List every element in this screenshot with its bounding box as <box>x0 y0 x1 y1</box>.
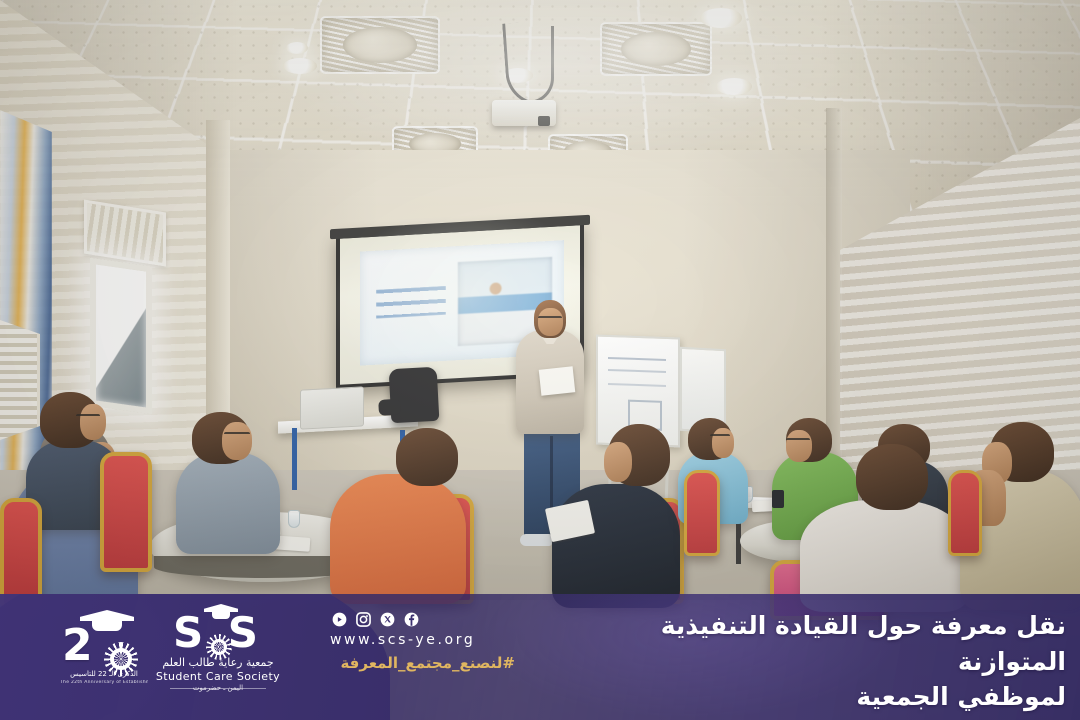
banner-headline: نقل معرفة حول القيادة التنفيذية المتوازن… <box>596 608 1066 715</box>
anniversary-english-caption: The 22th Anniversary of Establishment <box>60 680 148 685</box>
banquet-chair <box>948 470 982 556</box>
x-twitter-icon[interactable] <box>380 612 395 627</box>
banquet-chair <box>0 498 42 608</box>
attendee-face <box>786 430 812 462</box>
office-chair <box>389 367 440 423</box>
attendee-head <box>856 444 928 510</box>
org-logo: S S جمعية رعاية طالب العلم Student Care … <box>152 606 284 694</box>
laptop <box>300 386 364 429</box>
social-icons <box>332 612 522 627</box>
eyeglasses <box>224 432 250 436</box>
presenter-shoe <box>520 534 552 546</box>
attendee-face <box>80 404 106 440</box>
presenter-papers <box>539 366 576 395</box>
banquet-chair <box>100 452 152 572</box>
eyeglasses <box>538 316 562 320</box>
wall-air-conditioner <box>0 320 40 440</box>
org-region: اليمن ـ حضرموت <box>152 684 284 692</box>
window <box>90 258 152 415</box>
graduation-cap-icon <box>204 604 238 619</box>
attendee-head <box>396 428 458 486</box>
attendee-face <box>222 422 252 460</box>
slide-arabic-text <box>376 286 445 320</box>
eyeglasses <box>76 414 100 418</box>
graduation-cap-top <box>204 604 238 612</box>
graduation-cap-base <box>212 612 230 619</box>
presenter-face <box>538 308 563 336</box>
youtube-icon[interactable] <box>332 612 347 627</box>
org-english-name: Student Care Society <box>152 670 284 683</box>
eyeglasses <box>786 438 810 442</box>
facebook-icon[interactable] <box>404 612 419 627</box>
event-banner-image: 2 الذكرى الـ 22 للتأسيس The 22th Anniver… <box>0 0 1080 720</box>
bottom-banner: 2 الذكرى الـ 22 للتأسيس The 22th Anniver… <box>0 594 1080 720</box>
headline-line-1: نقل معرفة حول القيادة التنفيذية المتوازن… <box>661 611 1066 676</box>
attendee-body <box>176 452 280 554</box>
eyeglasses <box>710 434 730 438</box>
instagram-icon[interactable] <box>356 612 371 627</box>
graduation-cap-base <box>92 621 122 631</box>
attendee-face <box>712 428 734 458</box>
anniversary-number: 2 <box>62 624 90 668</box>
campaign-hashtag: #لنصنع_مجتمع_المعرفة <box>325 654 515 672</box>
smartphone <box>772 490 784 508</box>
attendee-face <box>604 442 632 482</box>
headline-line-2: لموظفي الجمعية <box>596 679 1066 715</box>
org-arabic-name: جمعية رعاية طالب العلم <box>152 656 284 669</box>
desk-leg <box>292 428 297 490</box>
attendee-body <box>330 474 466 604</box>
banquet-chair <box>684 470 720 556</box>
website-url[interactable]: www.scs-ye.org <box>330 632 530 648</box>
anniversary-arabic-caption: الذكرى الـ 22 للتأسيس <box>60 670 148 678</box>
anniversary-logo: 2 الذكرى الـ 22 للتأسيس The 22th Anniver… <box>60 608 146 692</box>
drinking-glass <box>288 510 300 528</box>
